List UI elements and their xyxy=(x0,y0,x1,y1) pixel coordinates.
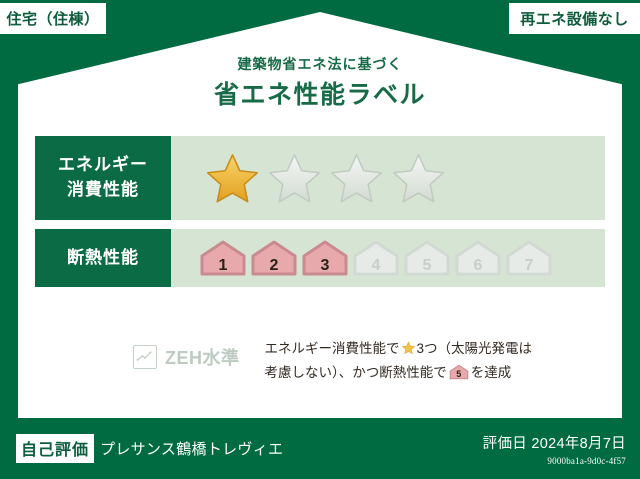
inline-house-badge: 5 xyxy=(449,364,469,380)
heading-title: 省エネ性能ラベル xyxy=(0,80,640,110)
row-energy-label: エネルギー 消費性能 xyxy=(35,136,171,220)
evaluation-date: 評価日 2024年8月7日 xyxy=(483,432,626,453)
evaluation-type-badge: 自己評価 xyxy=(16,434,94,463)
tag-renewable-energy: 再エネ設備なし xyxy=(509,3,640,34)
row-insulation-performance: 断熱性能 1234567 xyxy=(35,229,605,287)
star-icon-empty xyxy=(329,152,384,205)
insulation-level-chip: 5 xyxy=(403,238,451,278)
evaluation-id: 9000ba1a-9d0c-4f57 xyxy=(483,456,626,466)
insulation-level-number: 1 xyxy=(199,258,247,274)
zeh-standard-label: ZEH水準 xyxy=(165,344,240,370)
row-energy-label-line2: 消費性能 xyxy=(67,178,139,203)
insulation-level-chip: 7 xyxy=(505,238,553,278)
tag-renewable-energy-label: 再エネ設備なし xyxy=(520,8,629,29)
zeh-note-area: ZEH水準 エネルギー消費性能で3つ（太陽光発電は考慮しない）、かつ断熱性能で5… xyxy=(0,337,640,384)
star-rating xyxy=(205,152,446,205)
row-insulation-label: 断熱性能 xyxy=(35,229,171,287)
row-insulation-label-text: 断熱性能 xyxy=(67,246,139,271)
chart-square-icon xyxy=(133,345,157,369)
energy-label-root: 住宅（住棟） 再エネ設備なし 建築物省エネ法に基づく 省エネ性能ラベル エネルギ… xyxy=(0,0,640,479)
insulation-level-number: 6 xyxy=(454,258,502,274)
heading-subtitle: 建築物省エネ法に基づく xyxy=(0,56,640,73)
insulation-level-chip: 6 xyxy=(454,238,502,278)
row-energy-label-line1: エネルギー xyxy=(58,153,148,178)
zeh-note-part1: エネルギー消費性能で xyxy=(265,341,400,356)
insulation-level-number: 2 xyxy=(250,258,298,274)
insulation-level-chip: 3 xyxy=(301,238,349,278)
insulation-level-chip: 4 xyxy=(352,238,400,278)
row-insulation-value: 1234567 xyxy=(171,229,605,287)
rating-rows: エネルギー 消費性能 断熱性能 1234567 xyxy=(35,136,605,296)
insulation-level-chip: 1 xyxy=(199,238,247,278)
label-footer: 自己評価 プレサンス鶴橋トレヴィエ 評価日 2024年8月7日 9000ba1a… xyxy=(0,418,640,479)
building-name: プレサンス鶴橋トレヴィエ xyxy=(100,438,283,459)
insulation-level-number: 7 xyxy=(505,258,553,274)
star-icon-filled xyxy=(205,152,260,205)
zeh-note-part3: を達成 xyxy=(471,365,512,380)
zeh-note-text: エネルギー消費性能で3つ（太陽光発電は考慮しない）、かつ断熱性能で5を達成 xyxy=(265,337,540,384)
star-icon xyxy=(401,341,416,355)
star-icon-empty xyxy=(391,152,446,205)
footer-left: 自己評価 プレサンス鶴橋トレヴィエ xyxy=(0,434,483,463)
row-energy-performance: エネルギー 消費性能 xyxy=(35,136,605,220)
star-icon-empty xyxy=(267,152,322,205)
insulation-level-number: 5 xyxy=(403,258,451,274)
insulation-level-chip: 2 xyxy=(250,238,298,278)
tag-building-type-label: 住宅（住棟） xyxy=(6,8,99,29)
tag-building-type: 住宅（住棟） xyxy=(0,3,106,34)
label-heading: 建築物省エネ法に基づく 省エネ性能ラベル xyxy=(0,56,640,110)
insulation-level-number: 3 xyxy=(301,258,349,274)
zeh-standard-block: ZEH水準 xyxy=(133,344,240,370)
row-energy-value xyxy=(171,136,605,220)
inline-house-level: 5 xyxy=(449,370,469,379)
insulation-level-number: 4 xyxy=(352,258,400,274)
footer-right: 評価日 2024年8月7日 9000ba1a-9d0c-4f57 xyxy=(483,432,640,466)
insulation-level-scale: 1234567 xyxy=(199,238,553,278)
